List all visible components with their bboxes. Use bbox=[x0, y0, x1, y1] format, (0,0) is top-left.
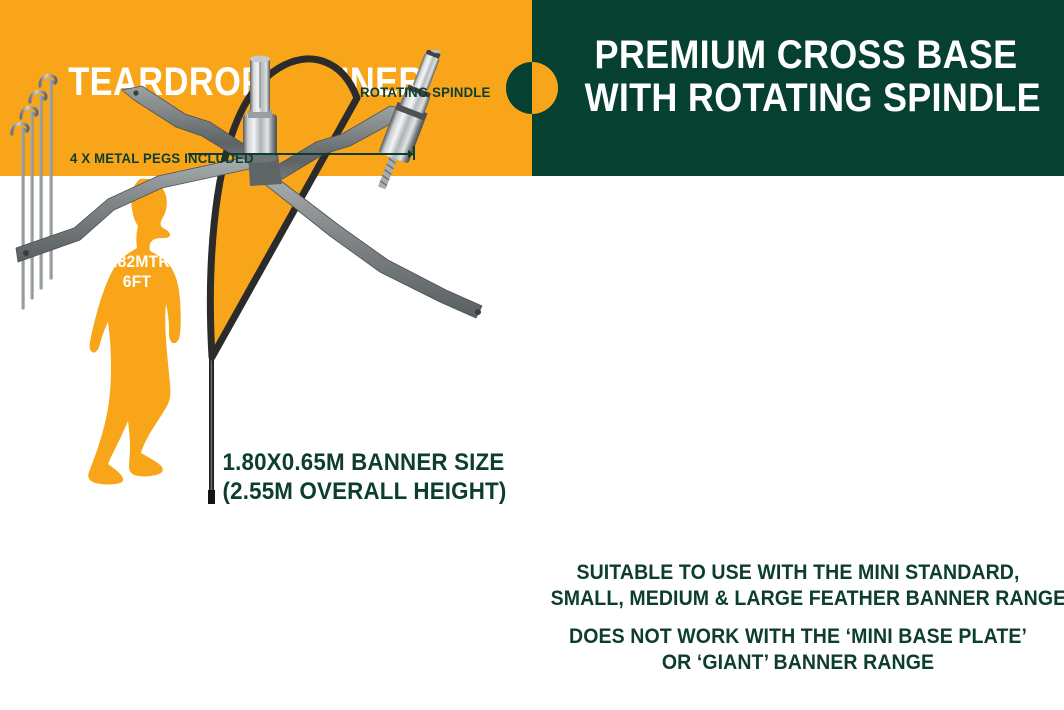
footnote-suitable: SUITABLE TO USE WITH THE MINI STANDARD, … bbox=[551, 560, 1046, 611]
metal-pegs-label: 4 X METAL PEGS INCLUDED bbox=[70, 150, 254, 166]
centre-spindle-post bbox=[243, 56, 277, 163]
header-right-title-line1: PREMIUM CROSS BASE bbox=[585, 34, 1028, 77]
footnote-not-compatible: DOES NOT WORK WITH THE ‘MINI BASE PLATE’… bbox=[551, 624, 1046, 675]
header-right-title-line2: WITH ROTATING SPINDLE bbox=[585, 77, 1028, 120]
person-height-imperial: 6FT bbox=[86, 272, 187, 292]
metal-peg-4 bbox=[12, 123, 28, 308]
split-circle-right-half bbox=[532, 62, 558, 114]
header-right-title: PREMIUM CROSS BASE WITH ROTATING SPINDLE bbox=[585, 34, 1028, 120]
banner-caption-line2: (2.55M OVERALL HEIGHT) bbox=[223, 478, 502, 507]
person-height-metric: 1.82MTR bbox=[86, 252, 187, 272]
cross-arm-top-left-hole bbox=[133, 90, 138, 95]
footnote-not-compatible-line1: DOES NOT WORK WITH THE ‘MINI BASE PLATE’ bbox=[551, 624, 1046, 650]
compatibility-footnotes: SUITABLE TO USE WITH THE MINI STANDARD, … bbox=[532, 560, 1064, 675]
centre-post-shaft-top bbox=[250, 56, 270, 63]
rotating-spindle-label: ROTATING SPINDLE bbox=[360, 84, 490, 100]
footnote-not-compatible-line2: OR ‘GIANT’ BANNER RANGE bbox=[551, 650, 1046, 676]
footnote-suitable-line2: SMALL, MEDIUM & LARGE FEATHER BANNER RAN… bbox=[551, 586, 1046, 612]
metal-pegs-group bbox=[12, 75, 56, 308]
banner-size-caption: 1.80X0.65M BANNER SIZE (2.55M OVERALL HE… bbox=[223, 449, 502, 507]
banner-caption-line1: 1.80X0.65M BANNER SIZE bbox=[223, 449, 502, 478]
cross-arm-bottom-right-hole bbox=[475, 309, 481, 315]
cross-arm-bottom-right bbox=[262, 174, 482, 318]
banner-pole-foot bbox=[208, 490, 215, 504]
infographic-page: TEARDROP BANNER PREMIUM CROSS BASE WITH … bbox=[0, 0, 1064, 710]
cross-arm-bottom-left-hole bbox=[23, 250, 29, 256]
footnote-suitable-line1: SUITABLE TO USE WITH THE MINI STANDARD, bbox=[551, 560, 1046, 586]
person-height-label: 1.82MTR 6FT bbox=[86, 252, 187, 292]
